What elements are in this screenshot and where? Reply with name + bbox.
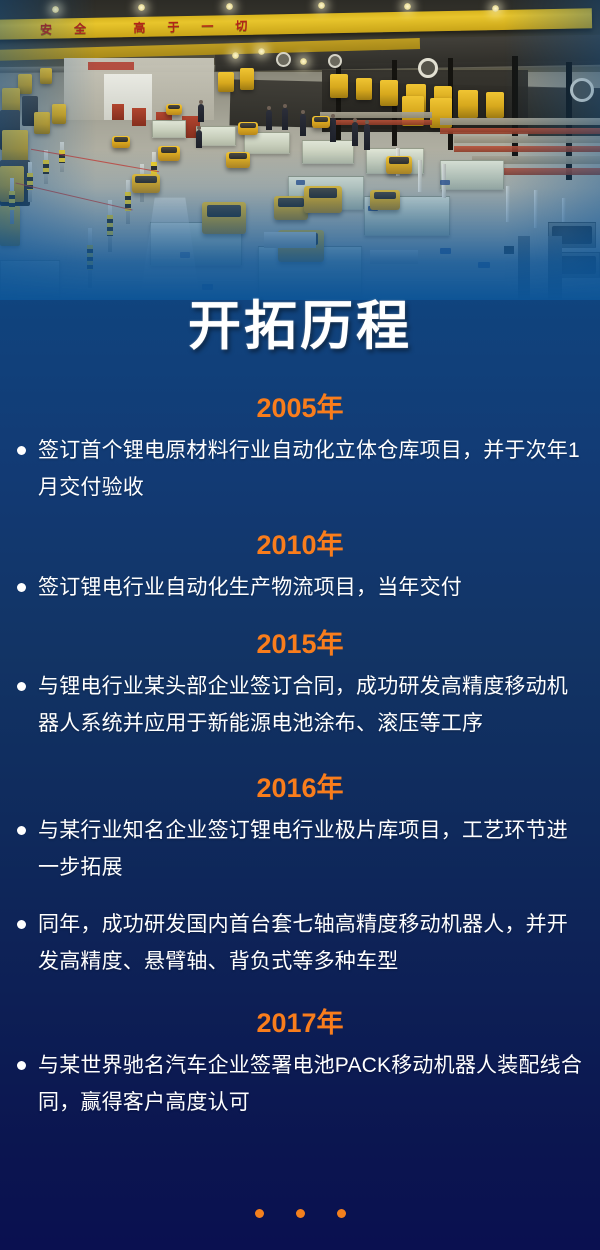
timeline-bullet: 同年，成功研发国内首台套七轴高精度移动机器人，并开发高精度、悬臂轴、背负式等多种… [16, 906, 586, 980]
page-title: 开拓历程 [188, 300, 412, 353]
page-title-wrapper: 开拓历程 [0, 300, 600, 353]
bullet-group-2017: 与某世界驰名汽车企业签署电池PACK移动机器人装配线合同，赢得客户高度认可 [0, 1047, 600, 1121]
bullet-group-2016: 与某行业知名企业签订锂电行业极片库项目，工艺环节进一步拓展 同年，成功研发国内首… [0, 812, 600, 980]
bullet-group-2005: 签订首个锂电原材料行业自动化立体仓库项目，并于次年1月交付验收 [0, 432, 600, 506]
year-label-2016: 2016年 [0, 775, 600, 802]
timeline-list: 2005年 签订首个锂电原材料行业自动化立体仓库项目，并于次年1月交付验收 20… [0, 395, 600, 1121]
timeline-bullet: 签订首个锂电原材料行业自动化立体仓库项目，并于次年1月交付验收 [16, 432, 586, 506]
bullet-text: 与某世界驰名汽车企业签署电池PACK移动机器人装配线合同，赢得客户高度认可 [38, 1054, 582, 1114]
timeline-entry-2010: 2010年 签订锂电行业自动化生产物流项目，当年交付 [0, 532, 600, 606]
poster-root: 安全 高于一切 [0, 0, 600, 1250]
bullet-group-2015: 与锂电行业某头部企业签订合同，成功研发高精度移动机器人系统并应用于新能源电池涂布… [0, 668, 600, 742]
photo-bottom-fade [0, 150, 600, 300]
bullet-dot-icon [17, 682, 26, 691]
timeline-bullet: 与锂电行业某头部企业签订合同，成功研发高精度移动机器人系统并应用于新能源电池涂布… [16, 668, 586, 742]
bullet-group-2010: 签订锂电行业自动化生产物流项目，当年交付 [0, 569, 600, 606]
pagination-dot-1[interactable] [255, 1209, 264, 1218]
bullet-dot-icon [17, 1061, 26, 1070]
timeline-entry-2015: 2015年 与锂电行业某头部企业签订合同，成功研发高精度移动机器人系统并应用于新… [0, 631, 600, 742]
year-label-2010: 2010年 [0, 532, 600, 559]
pagination-dot-3[interactable] [337, 1209, 346, 1218]
timeline-entry-2017: 2017年 与某世界驰名汽车企业签署电池PACK移动机器人装配线合同，赢得客户高… [0, 1010, 600, 1121]
timeline-entry-2016: 2016年 与某行业知名企业签订锂电行业极片库项目，工艺环节进一步拓展 同年，成… [0, 775, 600, 980]
bullet-dot-icon [17, 583, 26, 592]
timeline-bullet: 与某世界驰名汽车企业签署电池PACK移动机器人装配线合同，赢得客户高度认可 [16, 1047, 586, 1121]
bullet-text: 同年，成功研发国内首台套七轴高精度移动机器人，并开发高精度、悬臂轴、背负式等多种… [38, 913, 568, 973]
bullet-dot-icon [17, 920, 26, 929]
header-photo: 安全 高于一切 [0, 0, 600, 300]
bullet-dot-icon [17, 826, 26, 835]
pagination-dots[interactable] [0, 1209, 600, 1218]
pagination-dot-2[interactable] [296, 1209, 305, 1218]
year-label-2017: 2017年 [0, 1010, 600, 1037]
bullet-text: 签订锂电行业自动化生产物流项目，当年交付 [38, 576, 462, 599]
year-label-2005: 2005年 [0, 395, 600, 422]
bullet-text: 签订首个锂电原材料行业自动化立体仓库项目，并于次年1月交付验收 [38, 439, 580, 499]
year-label-2015: 2015年 [0, 631, 600, 658]
timeline-bullet: 签订锂电行业自动化生产物流项目，当年交付 [16, 569, 586, 606]
bullet-dot-icon [17, 446, 26, 455]
timeline-bullet: 与某行业知名企业签订锂电行业极片库项目，工艺环节进一步拓展 [16, 812, 586, 886]
bullet-text: 与某行业知名企业签订锂电行业极片库项目，工艺环节进一步拓展 [38, 819, 568, 879]
bullet-text: 与锂电行业某头部企业签订合同，成功研发高精度移动机器人系统并应用于新能源电池涂布… [38, 675, 568, 735]
timeline-entry-2005: 2005年 签订首个锂电原材料行业自动化立体仓库项目，并于次年1月交付验收 [0, 395, 600, 506]
